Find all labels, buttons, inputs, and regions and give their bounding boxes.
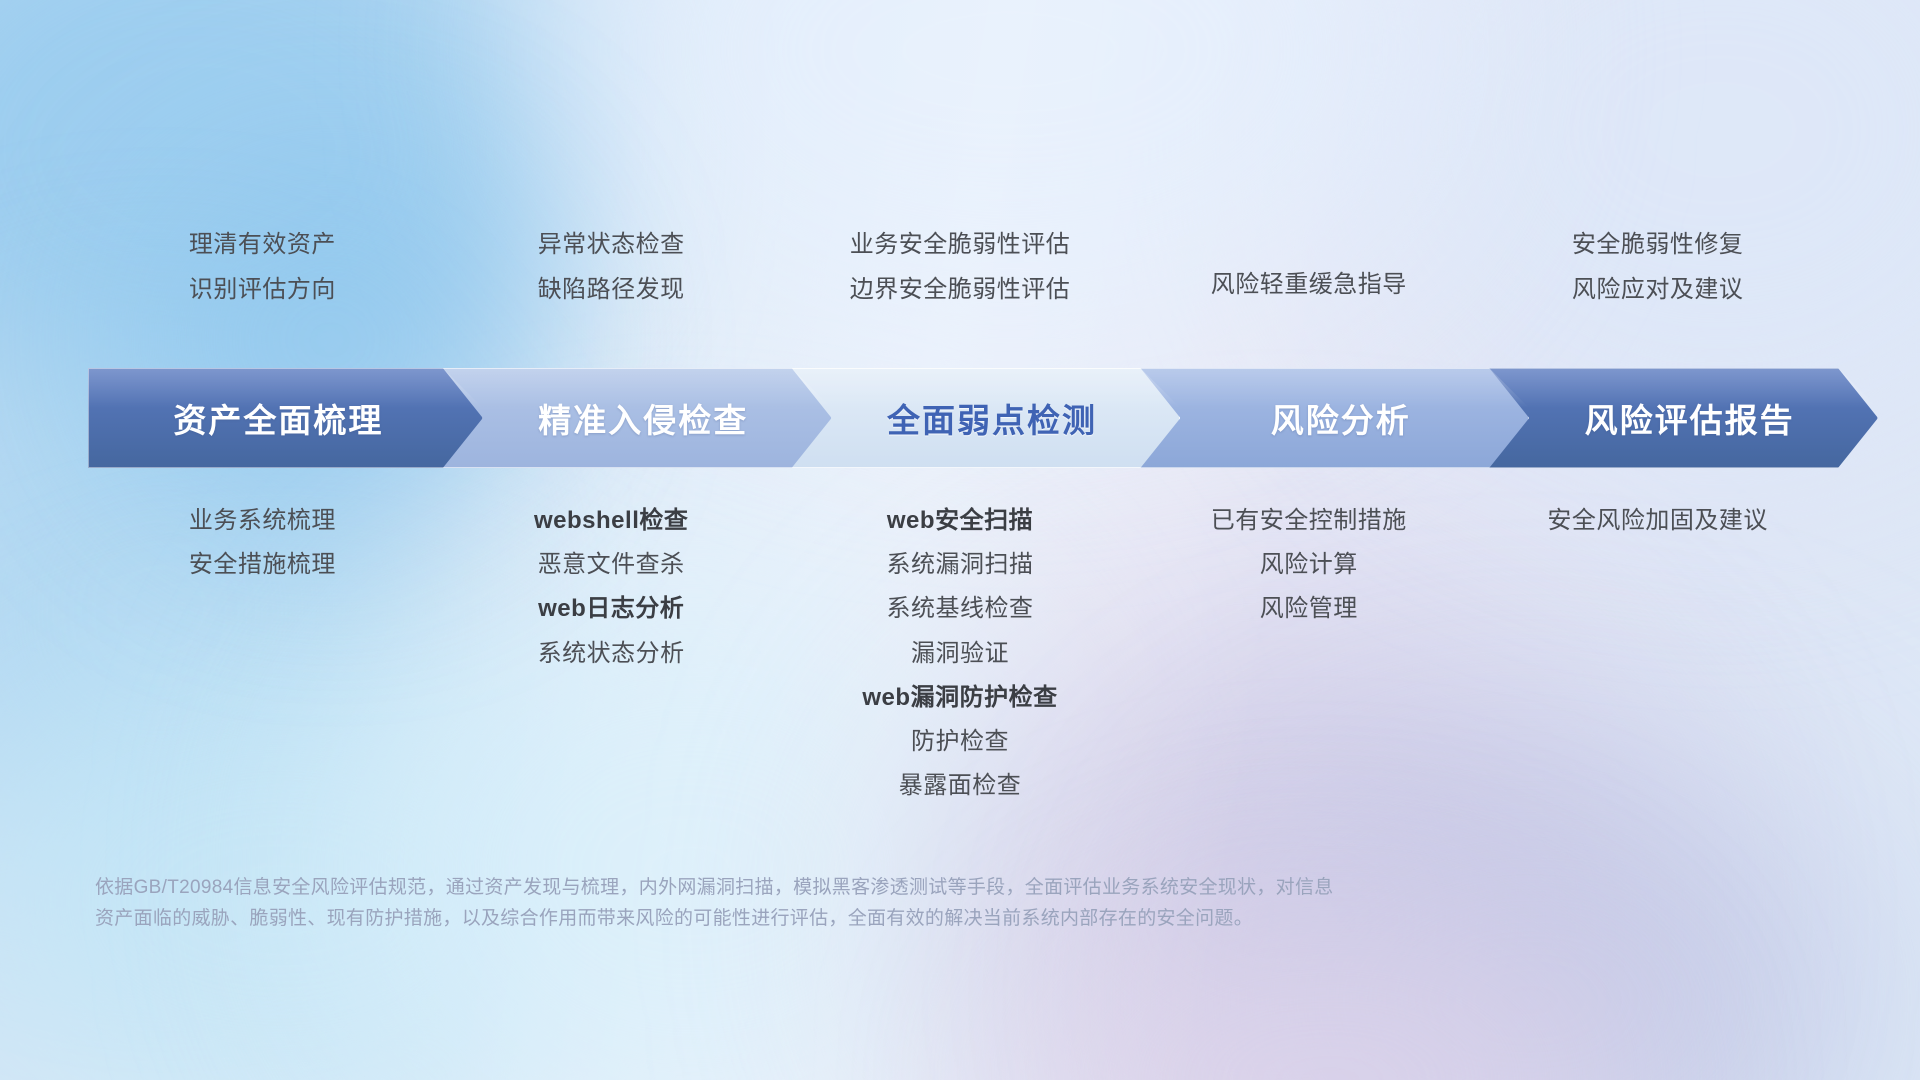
stage-arrow-label: 风险评估报告	[1585, 394, 1795, 442]
stage-activity-item[interactable]: 防护检查	[911, 726, 1009, 757]
stage-outcome-text: 缺陷路径发现	[538, 275, 685, 305]
stage-outcome-text: 异常状态检查	[538, 230, 685, 260]
stage-activity-item[interactable]: 系统基线检查	[886, 593, 1033, 624]
stage-activity-item[interactable]: 安全措施梳理	[189, 549, 336, 580]
stage-activities-row: 业务系统梳理安全措施梳理webshell检查恶意文件查杀web日志分析系统状态分…	[88, 505, 1832, 801]
stage-arrow-5[interactable]: 风险评估报告	[1483, 368, 1878, 468]
stage-activities-col-5: 安全风险加固及建议	[1483, 505, 1832, 536]
footer-line-1: 依据GB/T20984信息安全风险评估规范，通过资产发现与梳理，内外网漏洞扫描，…	[95, 873, 1655, 904]
stage-outcomes-row: 理清有效资产识别评估方向异常状态检查缺陷路径发现业务安全脆弱性评估边界安全脆弱性…	[88, 230, 1832, 305]
footer-line-2: 资产面临的威胁、脆弱性、现有防护措施，以及综合作用而带来风险的可能性进行评估，全…	[95, 904, 1655, 935]
stage-activities-col-2: webshell检查恶意文件查杀web日志分析系统状态分析	[437, 505, 786, 669]
stage-outcome-text: 安全脆弱性修复	[1572, 230, 1744, 260]
stage-activity-item[interactable]: 恶意文件查杀	[538, 549, 685, 580]
stage-activity-item[interactable]: 风险管理	[1260, 593, 1358, 624]
stage-activity-item[interactable]: 安全风险加固及建议	[1547, 505, 1768, 536]
stage-activities-col-1: 业务系统梳理安全措施梳理	[88, 505, 437, 580]
stage-outcome-text: 理清有效资产	[189, 230, 336, 260]
stage-arrow-label: 风险分析	[1271, 394, 1411, 442]
stage-outcomes-col-5: 安全脆弱性修复风险应对及建议	[1483, 230, 1832, 305]
stage-outcome-text: 业务安全脆弱性评估	[850, 230, 1071, 260]
stage-outcome-text: 风险轻重缓急指导	[1211, 270, 1407, 300]
stage-outcome-text: 识别评估方向	[189, 275, 336, 305]
stage-activity-item[interactable]: web安全扫描	[887, 505, 1033, 536]
process-flow-diagram: 理清有效资产识别评估方向异常状态检查缺陷路径发现业务安全脆弱性评估边界安全脆弱性…	[0, 0, 1920, 1080]
stage-outcomes-col-2: 异常状态检查缺陷路径发现	[437, 230, 786, 305]
stage-outcomes-col-3: 业务安全脆弱性评估边界安全脆弱性评估	[786, 230, 1135, 305]
stage-activity-item[interactable]: web漏洞防护检查	[862, 682, 1057, 713]
stage-activity-item[interactable]: 系统漏洞扫描	[886, 549, 1033, 580]
stage-activity-item[interactable]: 暴露面检查	[899, 770, 1022, 801]
stage-activity-item[interactable]: 漏洞验证	[911, 638, 1009, 669]
stage-arrow-label: 全面弱点检测	[887, 394, 1097, 442]
stage-arrow-2[interactable]: 精准入侵检查	[437, 368, 832, 468]
stage-arrow-band: 资产全面梳理精准入侵检查全面弱点检测风险分析风险评估报告	[88, 368, 1832, 468]
footer-description: 依据GB/T20984信息安全风险评估规范，通过资产发现与梳理，内外网漏洞扫描，…	[95, 873, 1655, 935]
stage-activity-item[interactable]: webshell检查	[534, 505, 688, 536]
stage-activity-item[interactable]: 风险计算	[1260, 549, 1358, 580]
stage-activities-col-4: 已有安全控制措施风险计算风险管理	[1134, 505, 1483, 625]
stage-arrow-label: 资产全面梳理	[173, 394, 383, 442]
stage-arrow-4[interactable]: 风险分析	[1134, 368, 1529, 468]
stage-activities-col-3: web安全扫描系统漏洞扫描系统基线检查漏洞验证web漏洞防护检查防护检查暴露面检…	[786, 505, 1135, 801]
stage-activity-item[interactable]: 业务系统梳理	[189, 505, 336, 536]
stage-outcome-text: 风险应对及建议	[1572, 275, 1744, 305]
stage-arrow-1[interactable]: 资产全面梳理	[88, 368, 483, 468]
stage-outcome-text: 边界安全脆弱性评估	[850, 275, 1071, 305]
stage-activity-item[interactable]: 已有安全控制措施	[1211, 505, 1407, 536]
stage-activity-item[interactable]: web日志分析	[538, 593, 684, 624]
stage-activity-item[interactable]: 系统状态分析	[538, 638, 685, 669]
stage-arrow-3[interactable]: 全面弱点检测	[786, 368, 1181, 468]
stage-outcomes-col-1: 理清有效资产识别评估方向	[88, 230, 437, 305]
stage-arrow-label: 精准入侵检查	[538, 394, 748, 442]
stage-outcomes-col-4: 风险轻重缓急指导	[1134, 230, 1483, 300]
